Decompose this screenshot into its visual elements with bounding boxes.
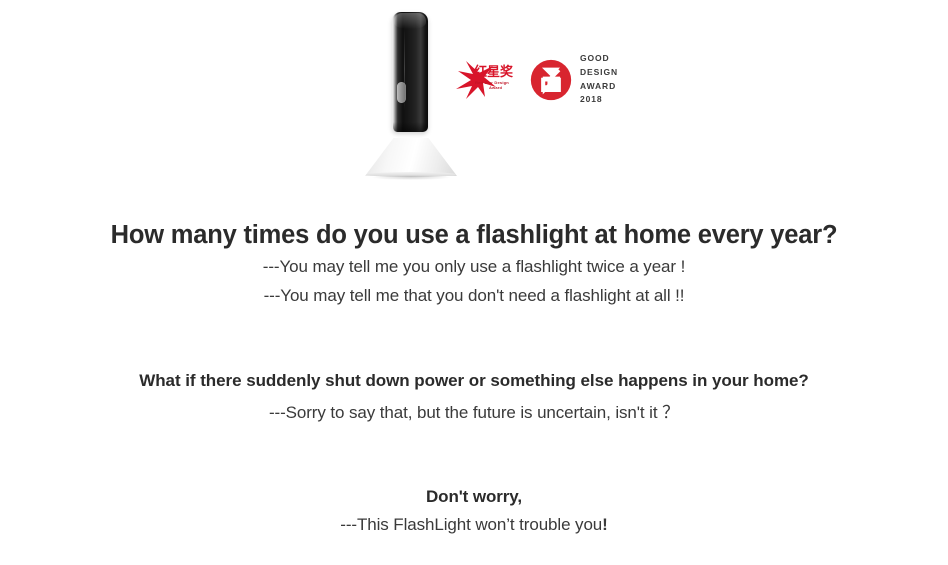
cone-drop-shadow (371, 175, 451, 180)
red-star-cn-title: 红星奖 (474, 66, 513, 79)
answer-4-text: ---This FlashLight won’t trouble you! (0, 515, 948, 535)
gda-line-3: AWARD (580, 80, 618, 94)
answer-2-text: ---You may tell me that you don't need a… (0, 286, 948, 306)
question-2-heading: What if there suddenly shut down power o… (0, 371, 948, 391)
cone-shape (365, 138, 457, 176)
flashlight-body (392, 12, 428, 132)
red-star-en-title: Red Star Design Award (475, 80, 515, 91)
red-star-en-line2: Design (494, 80, 509, 85)
flashlight-product-image (392, 12, 428, 132)
flashlight-bottom-shading (393, 122, 427, 132)
question-1-heading: How many times do you use a flashlight a… (0, 221, 948, 250)
gda-line-1: GOOD (580, 52, 618, 66)
flashlight-cone-base (365, 138, 457, 180)
good-design-award-badge: GOOD DESIGN AWARD 2018 (530, 52, 618, 107)
red-star-en-line3: Award (489, 85, 502, 90)
closing-heading: Don't worry, (0, 487, 948, 507)
gda-line-4: 2018 (580, 93, 618, 107)
g-mark-icon (530, 59, 572, 101)
red-star-en-line1: Red Star (475, 80, 493, 85)
hero-product-section: 红星奖 Red Star Design Award GOOD DESIGN AW… (0, 0, 948, 196)
red-star-design-award-logo: 红星奖 Red Star Design Award (452, 57, 516, 103)
gda-line-2: DESIGN (580, 66, 618, 80)
award-badges: 红星奖 Red Star Design Award GOOD DESIGN AW… (452, 52, 618, 107)
answer-4-exclamation: ! (602, 515, 608, 534)
flashlight-power-button (397, 82, 406, 103)
good-design-award-text: GOOD DESIGN AWARD 2018 (580, 52, 618, 107)
answer-1-text: ---You may tell me you only use a flashl… (0, 257, 948, 277)
answer-4-main: ---This FlashLight won’t trouble you (340, 515, 602, 534)
answer-3-text: ---Sorry to say that, but the future is … (0, 398, 948, 423)
